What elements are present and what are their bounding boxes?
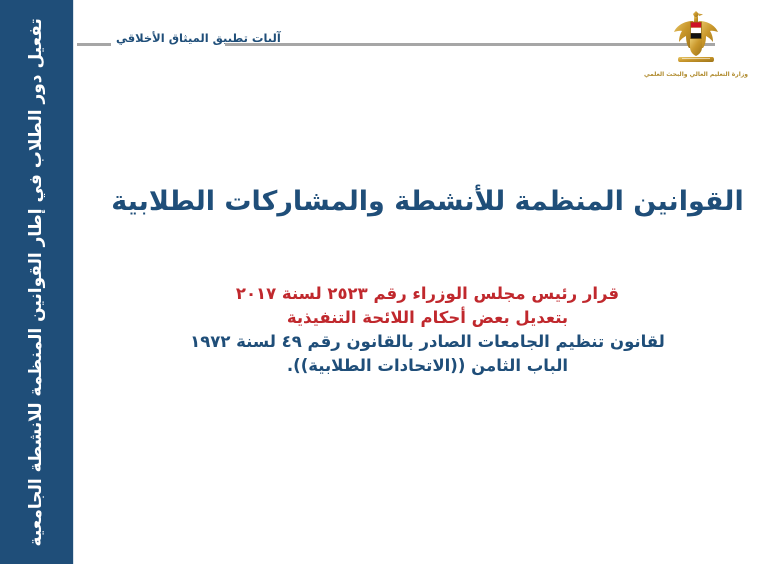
- subtitle-line-4: الباب الثامن ((الاتحادات الطلابية)).: [104, 354, 751, 378]
- sidebar-vertical-title: تفعيل دور الطلاب في إطار القوانين المنظم…: [28, 18, 45, 546]
- emblem-caption: وزارة التعليم العالي والبحث العلمي: [631, 71, 761, 78]
- slide-header: آليات تطبيق الميثاق الأخلاقي: [73, 0, 781, 100]
- subtitle-line-1: قرار رئيس مجلس الوزراء رقم ٢٥٢٣ لسنة ٢٠١…: [104, 282, 751, 306]
- egypt-eagle-emblem-icon: [668, 8, 724, 70]
- header-rule-left: [77, 43, 111, 46]
- slide-content: القوانين المنظمة للأنشطة والمشاركات الطل…: [74, 110, 781, 564]
- ministry-emblem: وزارة التعليم العالي والبحث العلمي: [631, 8, 761, 78]
- sidebar-text-wrap: تفعيل دور الطلاب في إطار القوانين المنظم…: [0, 0, 73, 564]
- page-title: القوانين المنظمة للأنشطة والمشاركات الطل…: [74, 185, 781, 219]
- subtitle-line-2: بتعديل بعض أحكام اللائحة التنفيذية: [104, 306, 751, 330]
- slide-root: تفعيل دور الطلاب في إطار القوانين المنظم…: [0, 0, 781, 564]
- subtitle-block: قرار رئيس مجلس الوزراء رقم ٢٥٢٣ لسنة ٢٠١…: [74, 282, 781, 378]
- subtitle-line-3: لقانون تنظيم الجامعات الصادر بالقانون رق…: [104, 330, 751, 354]
- sidebar-band: تفعيل دور الطلاب في إطار القوانين المنظم…: [0, 0, 73, 564]
